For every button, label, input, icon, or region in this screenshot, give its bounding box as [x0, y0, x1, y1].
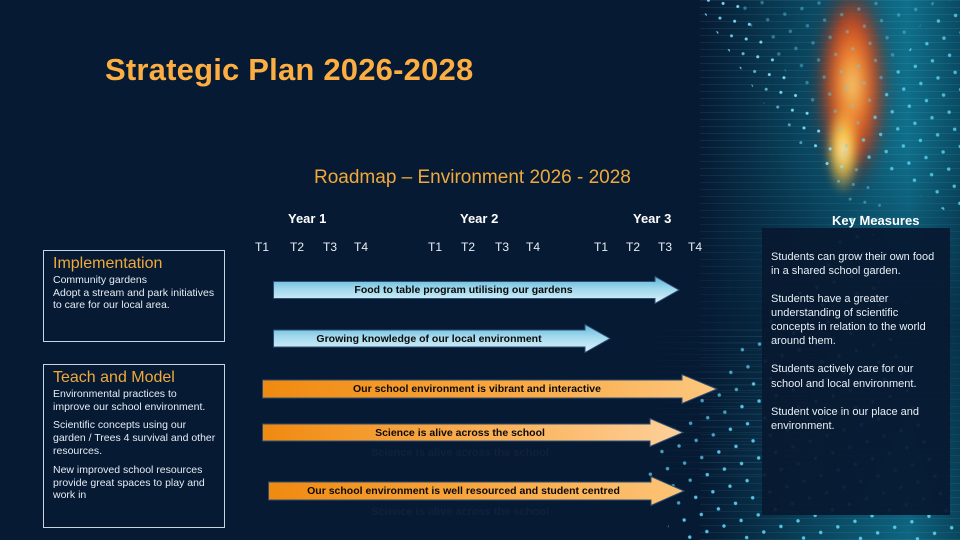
panel-implementation-text-2: Adopt a stream and park initiatives to c… — [53, 287, 216, 313]
key-measures-header: Key Measures — [832, 213, 919, 228]
term-label-y1t2: T2 — [290, 240, 304, 254]
key-measure-item-3: Students actively care for our school an… — [771, 362, 940, 390]
term-label-y2t4: T4 — [526, 240, 540, 254]
panel-teach-and-model: Teach and Model Environmental practices … — [43, 364, 225, 528]
key-measures-list: Students can grow their own food in a sh… — [762, 228, 950, 433]
key-measure-item-2: Students have a greater understanding of… — [771, 292, 940, 348]
arrow-vibrant-interactive[interactable]: Our school environment is vibrant and in… — [262, 374, 718, 404]
roadmap-heading: Roadmap – Environment 2026 - 2028 — [314, 167, 631, 189]
panel-key-measures: Students can grow their own food in a sh… — [762, 228, 950, 515]
arrow-science-alive[interactable]: Science is alive across the school — [262, 418, 684, 447]
year-header-row: Year 1 Year 2 Year 3 — [255, 211, 715, 229]
orange-light-core — [820, 90, 866, 210]
panel-teach-and-model-text-1: Environmental practices to improve our s… — [53, 388, 216, 414]
term-label-y3t4: T4 — [688, 240, 702, 254]
key-measure-item-4: Student voice in our place and environme… — [771, 405, 940, 433]
term-label-y3t3: T3 — [658, 240, 672, 254]
term-label-y3t2: T2 — [626, 240, 640, 254]
arrow-well-resourced[interactable]: Our school environment is well resourced… — [268, 476, 685, 506]
slide-root: Strategic Plan 2026-2028 Roadmap – Envir… — [0, 0, 960, 540]
panel-teach-and-model-text-2: Scientific concepts using our garden / T… — [53, 419, 216, 457]
term-label-y1t4: T4 — [354, 240, 368, 254]
panel-implementation: Implementation Community gardens Adopt a… — [43, 250, 225, 342]
term-label-y1t1: T1 — [255, 240, 269, 254]
panel-implementation-text-1: Community gardens — [53, 274, 216, 287]
term-label-y2t2: T2 — [461, 240, 475, 254]
ghost-label-1: Science is alive across the school — [371, 447, 549, 459]
page-title: Strategic Plan 2026-2028 — [105, 52, 473, 88]
arrow-growing-knowledge[interactable]: Growing knowledge of our local environme… — [273, 324, 611, 353]
orange-light-flare — [812, 0, 892, 200]
term-label-y2t1: T1 — [428, 240, 442, 254]
term-label-y2t3: T3 — [495, 240, 509, 254]
panel-teach-and-model-heading: Teach and Model — [44, 365, 224, 388]
year-label-1: Year 1 — [288, 211, 326, 226]
year-label-3: Year 3 — [633, 211, 671, 226]
term-label-y1t3: T3 — [323, 240, 337, 254]
term-header-row: T1 T2 T3 T4 T1 T2 T3 T4 T1 T2 T3 T4 — [255, 240, 715, 256]
panel-implementation-body: Community gardens Adopt a stream and par… — [44, 274, 224, 312]
panel-teach-and-model-text-3: New improved school resources provide gr… — [53, 464, 216, 502]
panel-implementation-heading: Implementation — [44, 251, 224, 274]
key-measure-item-1: Students can grow their own food in a sh… — [771, 250, 940, 278]
ghost-label-2: Science is alive across the school — [371, 506, 549, 518]
arrow-food-to-table[interactable]: Food to table program utilising our gard… — [273, 276, 680, 304]
panel-teach-and-model-body: Environmental practices to improve our s… — [44, 388, 224, 502]
term-label-y3t1: T1 — [594, 240, 608, 254]
year-label-2: Year 2 — [460, 211, 498, 226]
